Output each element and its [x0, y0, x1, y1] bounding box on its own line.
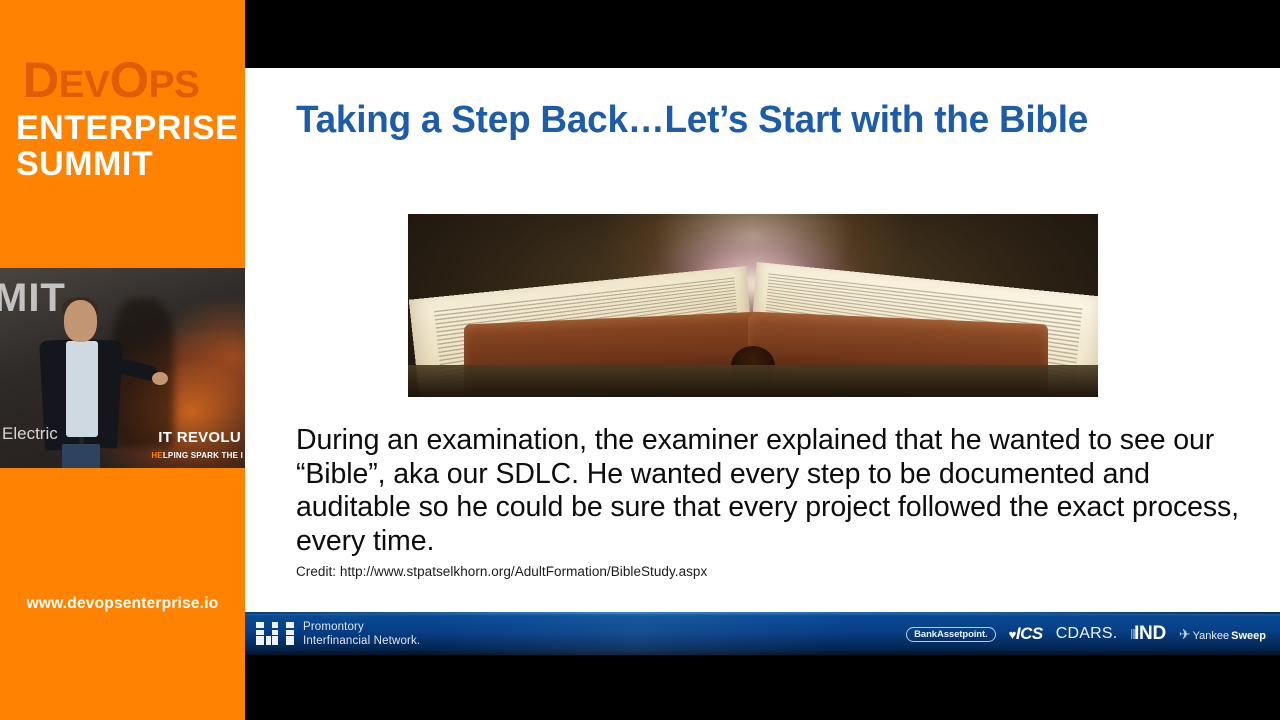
pin-logo-mark-icon	[256, 622, 294, 646]
speaker-shirt	[66, 341, 98, 437]
it-revolution-tagline-rest: LPING SPARK THE I	[163, 451, 243, 460]
slide-image-credit: Credit: http://www.stpatselkhorn.org/Adu…	[296, 564, 707, 579]
speaker-head	[64, 300, 97, 342]
cdars-logo: CDARS.	[1056, 625, 1118, 643]
sponsor-brand-row: BankAssetpoint. ♥ICS CDARS. ⦀IND ✈Yankee…	[906, 623, 1266, 645]
speaker-video-thumbnail[interactable]: MIT Electric IT REVOLU HELPING SPARK THE…	[0, 268, 245, 468]
promontory-logo: Promontory Interfinancial Network.	[256, 620, 420, 648]
slide-canvas: Taking a Step Back…Let’s Start with the …	[245, 68, 1280, 655]
site-url-label[interactable]: www.devopsenterprise.io	[0, 595, 245, 613]
ind-logo: ⦀IND	[1130, 623, 1166, 645]
yankee-sweep-logo: ✈YankeeSweep	[1179, 626, 1266, 643]
presentation-video-frame: DEVOPS ENTERPRISE SUMMIT MIT Electric IT…	[0, 0, 1280, 720]
backdrop-sponsor-text: Electric	[2, 424, 58, 444]
ics-label: ICS	[1016, 624, 1043, 643]
speaker-pants	[62, 444, 100, 468]
logo-devops-wordmark: DEVOPS	[0, 56, 245, 105]
yankee-label: Yankee	[1193, 630, 1230, 642]
letterbox-bottom	[245, 655, 1280, 720]
promontory-line1: Promontory	[303, 620, 420, 634]
logo-devops-ps: PS	[149, 64, 200, 106]
sponsor-footer-bar: Promontory Interfinancial Network. BankA…	[245, 612, 1280, 655]
logo-devops-d: D	[22, 52, 58, 108]
ind-label: IND	[1134, 623, 1166, 644]
bankassetpoint-logo: BankAssetpoint.	[906, 627, 995, 642]
speaker-hand	[152, 372, 168, 385]
slide-title: Taking a Step Back…Let’s Start with the …	[296, 99, 1088, 142]
bible-table-surface	[408, 365, 1098, 397]
logo-devops-o: O	[109, 52, 148, 108]
logo-enterprise-line: ENTERPRISE	[0, 111, 245, 147]
promontory-name: Promontory Interfinancial Network.	[303, 620, 420, 648]
ics-logo: ♥ICS	[1009, 624, 1043, 644]
logo-devops-ev: EV	[59, 64, 110, 106]
devops-enterprise-summit-logo: DEVOPS ENTERPRISE SUMMIT	[0, 56, 245, 182]
promontory-line2: Interfinancial Network.	[303, 634, 420, 648]
it-revolution-tagline: HELPING SPARK THE I	[151, 451, 243, 460]
sweep-label: Sweep	[1231, 630, 1266, 642]
letterbox-top	[245, 0, 1280, 68]
sidebar: DEVOPS ENTERPRISE SUMMIT MIT Electric IT…	[0, 0, 245, 720]
slide-body-text: During an examination, the examiner expl…	[296, 424, 1241, 559]
open-bible-image	[408, 214, 1098, 397]
logo-summit-line: SUMMIT	[0, 147, 245, 183]
it-revolution-logo: IT REVOLU	[158, 429, 241, 446]
it-revolution-tagline-highlight: HE	[151, 451, 163, 460]
ics-leaf-icon: ♥	[1009, 627, 1016, 642]
yankee-swoosh-icon: ✈	[1179, 626, 1191, 643]
